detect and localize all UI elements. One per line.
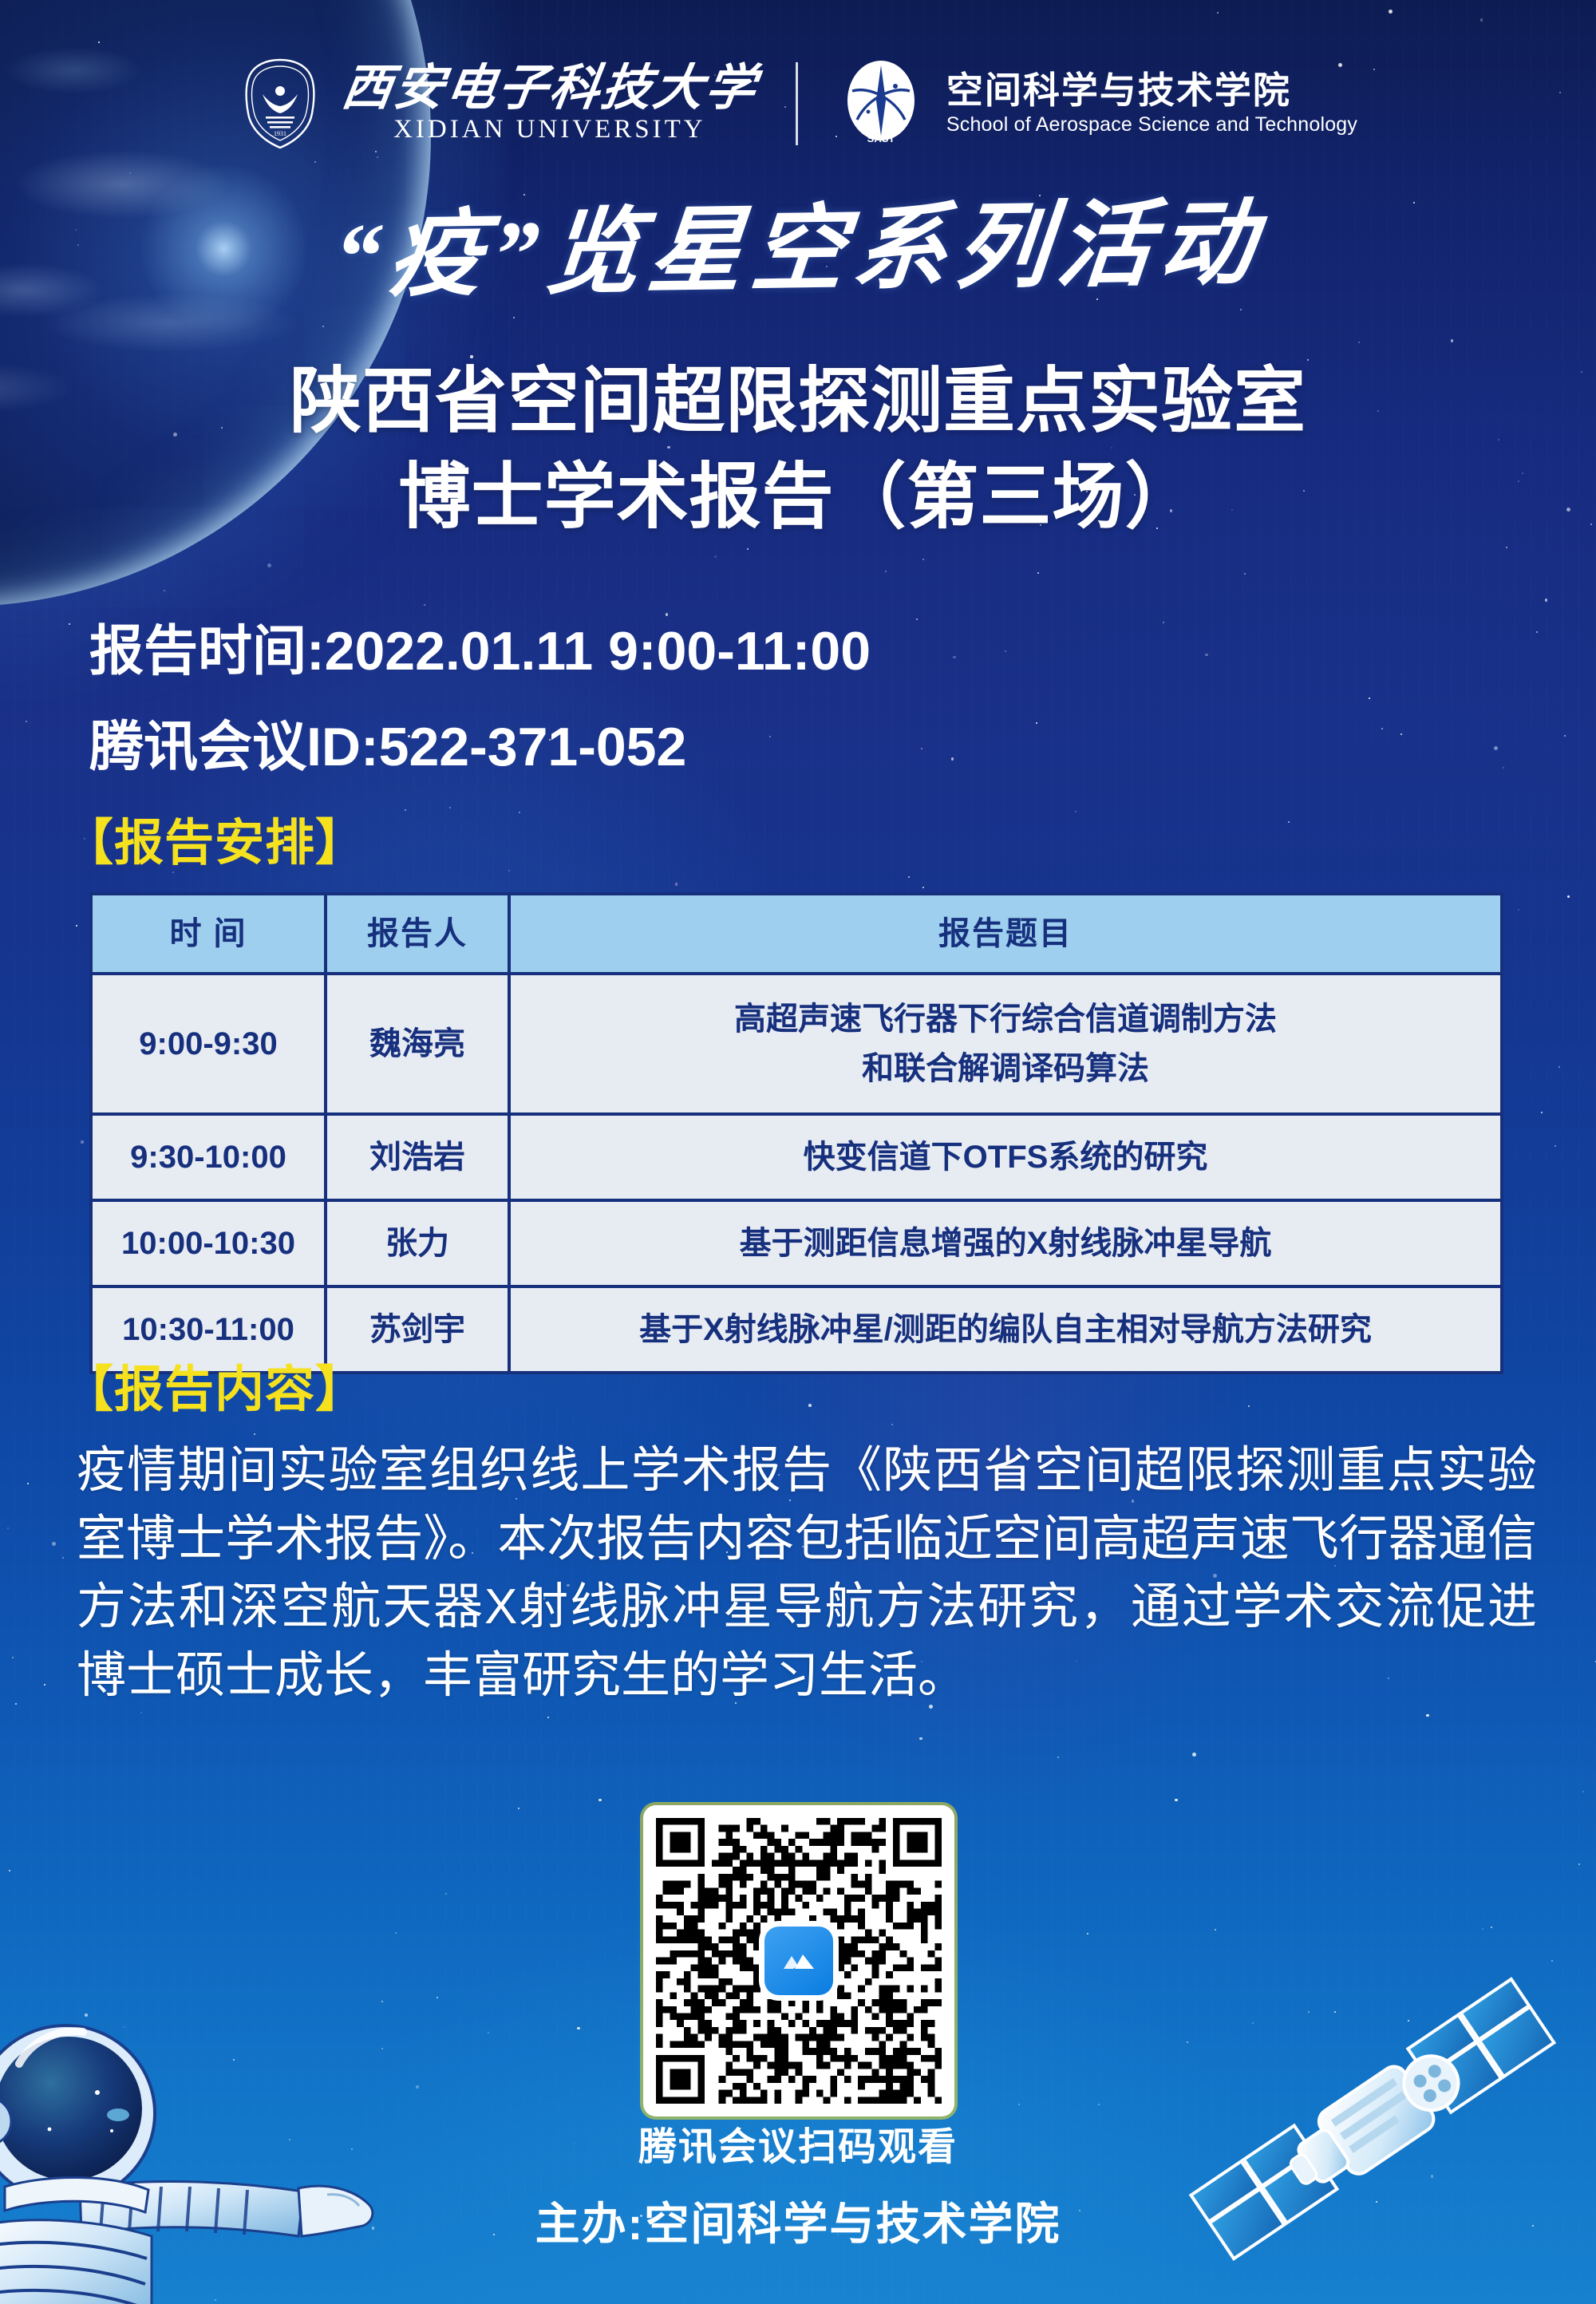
sast-emblem-icon: SAST — [836, 59, 926, 148]
star — [523, 194, 525, 196]
star — [1480, 18, 1483, 22]
star — [1582, 1791, 1584, 1792]
star — [1111, 447, 1112, 449]
star — [919, 1737, 922, 1741]
star — [449, 807, 451, 808]
star — [1545, 599, 1548, 602]
star — [164, 590, 165, 591]
cell-title: 高超声速飞行器下行综合信道调制方法 和联合解调译码算法 — [511, 975, 1500, 1112]
star — [769, 736, 771, 737]
star — [808, 1404, 812, 1407]
cell-title: 基于X射线脉冲星/测距的编队自主相对导航方法研究 — [511, 1288, 1500, 1371]
cell-title-line1: 高超声速飞行器下行综合信道调制方法 — [734, 999, 1277, 1039]
star — [577, 2027, 580, 2030]
table-header-row: 时 间 报告人 报告题目 — [93, 895, 1500, 972]
logo-divider — [796, 62, 798, 145]
star — [953, 656, 956, 659]
star — [1057, 1757, 1059, 1758]
star — [1288, 821, 1290, 823]
star — [377, 156, 378, 158]
star — [405, 809, 406, 811]
star — [1578, 1863, 1580, 1865]
poster-canvas: 1931 西安电子科技大学 XIDIAN UNIVERSITY SAST 空间科… — [0, 0, 1596, 2304]
main-title-line1: 陕西省空间超限探测重点实验室 — [0, 359, 1596, 444]
star — [1555, 1145, 1556, 1147]
star — [518, 1808, 519, 1809]
th-speaker: 报告人 — [327, 895, 508, 972]
star — [1558, 1066, 1560, 1068]
star — [1244, 573, 1246, 575]
star — [1389, 10, 1393, 14]
th-title: 报告题目 — [511, 895, 1500, 972]
star — [1451, 339, 1454, 342]
cell-speaker: 魏海亮 — [327, 975, 508, 1112]
star — [52, 1542, 56, 1546]
star — [424, 604, 425, 606]
sast-name-block: 空间科学与技术学院 School of Aerospace Science an… — [946, 72, 1357, 136]
star — [445, 1893, 447, 1895]
cell-speaker: 张力 — [327, 1202, 508, 1285]
star — [1369, 698, 1370, 699]
cell-time: 9:30-10:00 — [93, 1116, 324, 1199]
cell-speaker: 刘浩岩 — [327, 1116, 508, 1199]
star — [1192, 1753, 1196, 1757]
star — [1163, 622, 1164, 623]
star — [267, 563, 271, 567]
content-section-label: 【报告内容】 — [64, 1349, 365, 1421]
star — [140, 1712, 142, 1713]
star — [375, 151, 377, 152]
star — [1037, 572, 1039, 574]
star — [1075, 811, 1077, 812]
star — [667, 446, 670, 449]
star — [885, 571, 887, 572]
star — [1018, 2104, 1020, 2105]
star — [254, 1433, 255, 1435]
star — [916, 618, 918, 620]
star — [1358, 342, 1360, 343]
table-row: 9:30-10:00 刘浩岩 快变信道下OTFS系统的研究 — [93, 1116, 1500, 1199]
xidian-crest-icon: 1931 — [239, 57, 322, 150]
star — [513, 317, 515, 318]
star — [488, 2032, 489, 2033]
qr-code[interactable] — [643, 1805, 954, 2116]
star — [1175, 1799, 1178, 1802]
star — [1240, 309, 1242, 310]
star — [69, 623, 70, 625]
th-time: 时 间 — [93, 895, 324, 972]
report-time: 报告时间:2022.01.11 9:00-11:00 — [89, 607, 871, 686]
star — [1551, 1960, 1553, 1962]
cell-title-line2: 和联合解调译码算法 — [862, 1049, 1149, 1089]
star — [922, 559, 924, 560]
header-logo-bar: 1931 西安电子科技大学 XIDIAN UNIVERSITY SAST 空间科… — [0, 57, 1596, 150]
star — [1087, 1933, 1088, 1934]
star — [1567, 895, 1570, 899]
star — [714, 555, 717, 559]
star — [129, 172, 131, 174]
cell-time: 9:00-9:30 — [93, 975, 324, 1112]
university-name-en: XIDIAN UNIVERSITY — [393, 115, 706, 144]
star — [62, 1557, 64, 1559]
cell-time: 10:00-10:30 — [93, 1202, 324, 1285]
star — [1494, 746, 1498, 750]
xidian-name-block: 西安电子科技大学 XIDIAN UNIVERSITY — [342, 64, 757, 144]
school-name-cn: 空间科学与技术学院 — [946, 72, 1357, 109]
star — [9, 1870, 10, 1871]
star — [314, 161, 316, 163]
star — [395, 1932, 397, 1934]
university-name-cn: 西安电子科技大学 — [339, 64, 761, 113]
main-title-line2: 博士学术报告（第三场） — [0, 455, 1596, 539]
star — [1205, 654, 1208, 657]
star — [1096, 298, 1098, 300]
star — [12, 1657, 14, 1658]
star — [908, 876, 910, 878]
star — [1503, 767, 1504, 769]
svg-text:1931: 1931 — [274, 130, 286, 137]
meeting-id: 腾讯会议ID:522-371-052 — [89, 702, 686, 781]
star — [1217, 12, 1219, 14]
astronaut-icon — [0, 1987, 423, 2304]
star — [519, 812, 520, 813]
star — [1482, 1928, 1483, 1930]
star — [747, 548, 749, 550]
star — [15, 1703, 17, 1705]
star — [1491, 1927, 1492, 1928]
svg-text:SAST: SAST — [867, 132, 895, 144]
content-paragraph: 疫情期间实验室组织线上学术报告《陕西省空间超限探测重点实验室博士学术报告》。本次… — [77, 1437, 1537, 1709]
cell-title: 基于测距信息增强的X射线脉冲星导航 — [511, 1202, 1500, 1285]
star — [76, 925, 77, 927]
star — [7, 1527, 9, 1529]
satellite-icon — [1181, 1971, 1580, 2290]
star — [547, 1717, 549, 1718]
star — [81, 1140, 84, 1144]
star — [1215, 1929, 1216, 1931]
star — [951, 757, 954, 761]
schedule-table: 时 间 报告人 报告题目 9:00-9:30 魏海亮 高超声速飞行器下行综合信道… — [89, 892, 1503, 1374]
school-name-en: School of Aerospace Science and Technolo… — [946, 113, 1357, 136]
star — [1248, 1405, 1250, 1407]
table-row: 10:00-10:30 张力 基于测距信息增强的X射线脉冲星导航 — [93, 1202, 1500, 1285]
star — [598, 1799, 602, 1802]
star — [98, 41, 100, 43]
star — [44, 1684, 45, 1686]
star — [27, 1483, 29, 1484]
star — [1426, 1714, 1429, 1717]
star — [1564, 735, 1566, 737]
star — [1005, 650, 1006, 652]
star — [26, 721, 27, 722]
schedule-section-label: 【报告安排】 — [64, 802, 365, 874]
tencent-meeting-logo-icon — [764, 1927, 833, 1995]
star — [437, 1997, 438, 1998]
star — [891, 1424, 893, 1425]
qr-code-matrix — [656, 1818, 942, 2104]
cell-title: 快变信道下OTFS系统的研究 — [511, 1116, 1500, 1199]
star — [1098, 2104, 1100, 2105]
star — [470, 355, 473, 358]
star — [1506, 547, 1507, 548]
star — [322, 326, 324, 327]
star — [1036, 722, 1037, 724]
star — [1536, 631, 1538, 633]
star — [921, 748, 922, 749]
star — [1518, 909, 1519, 911]
star — [1541, 1112, 1543, 1113]
star — [508, 870, 510, 871]
star — [1400, 733, 1402, 735]
star — [922, 887, 924, 888]
star — [1381, 728, 1383, 729]
table-row: 9:00-9:30 魏海亮 高超声速飞行器下行综合信道调制方法 和联合解调译码算… — [93, 975, 1500, 1112]
star — [675, 883, 678, 886]
